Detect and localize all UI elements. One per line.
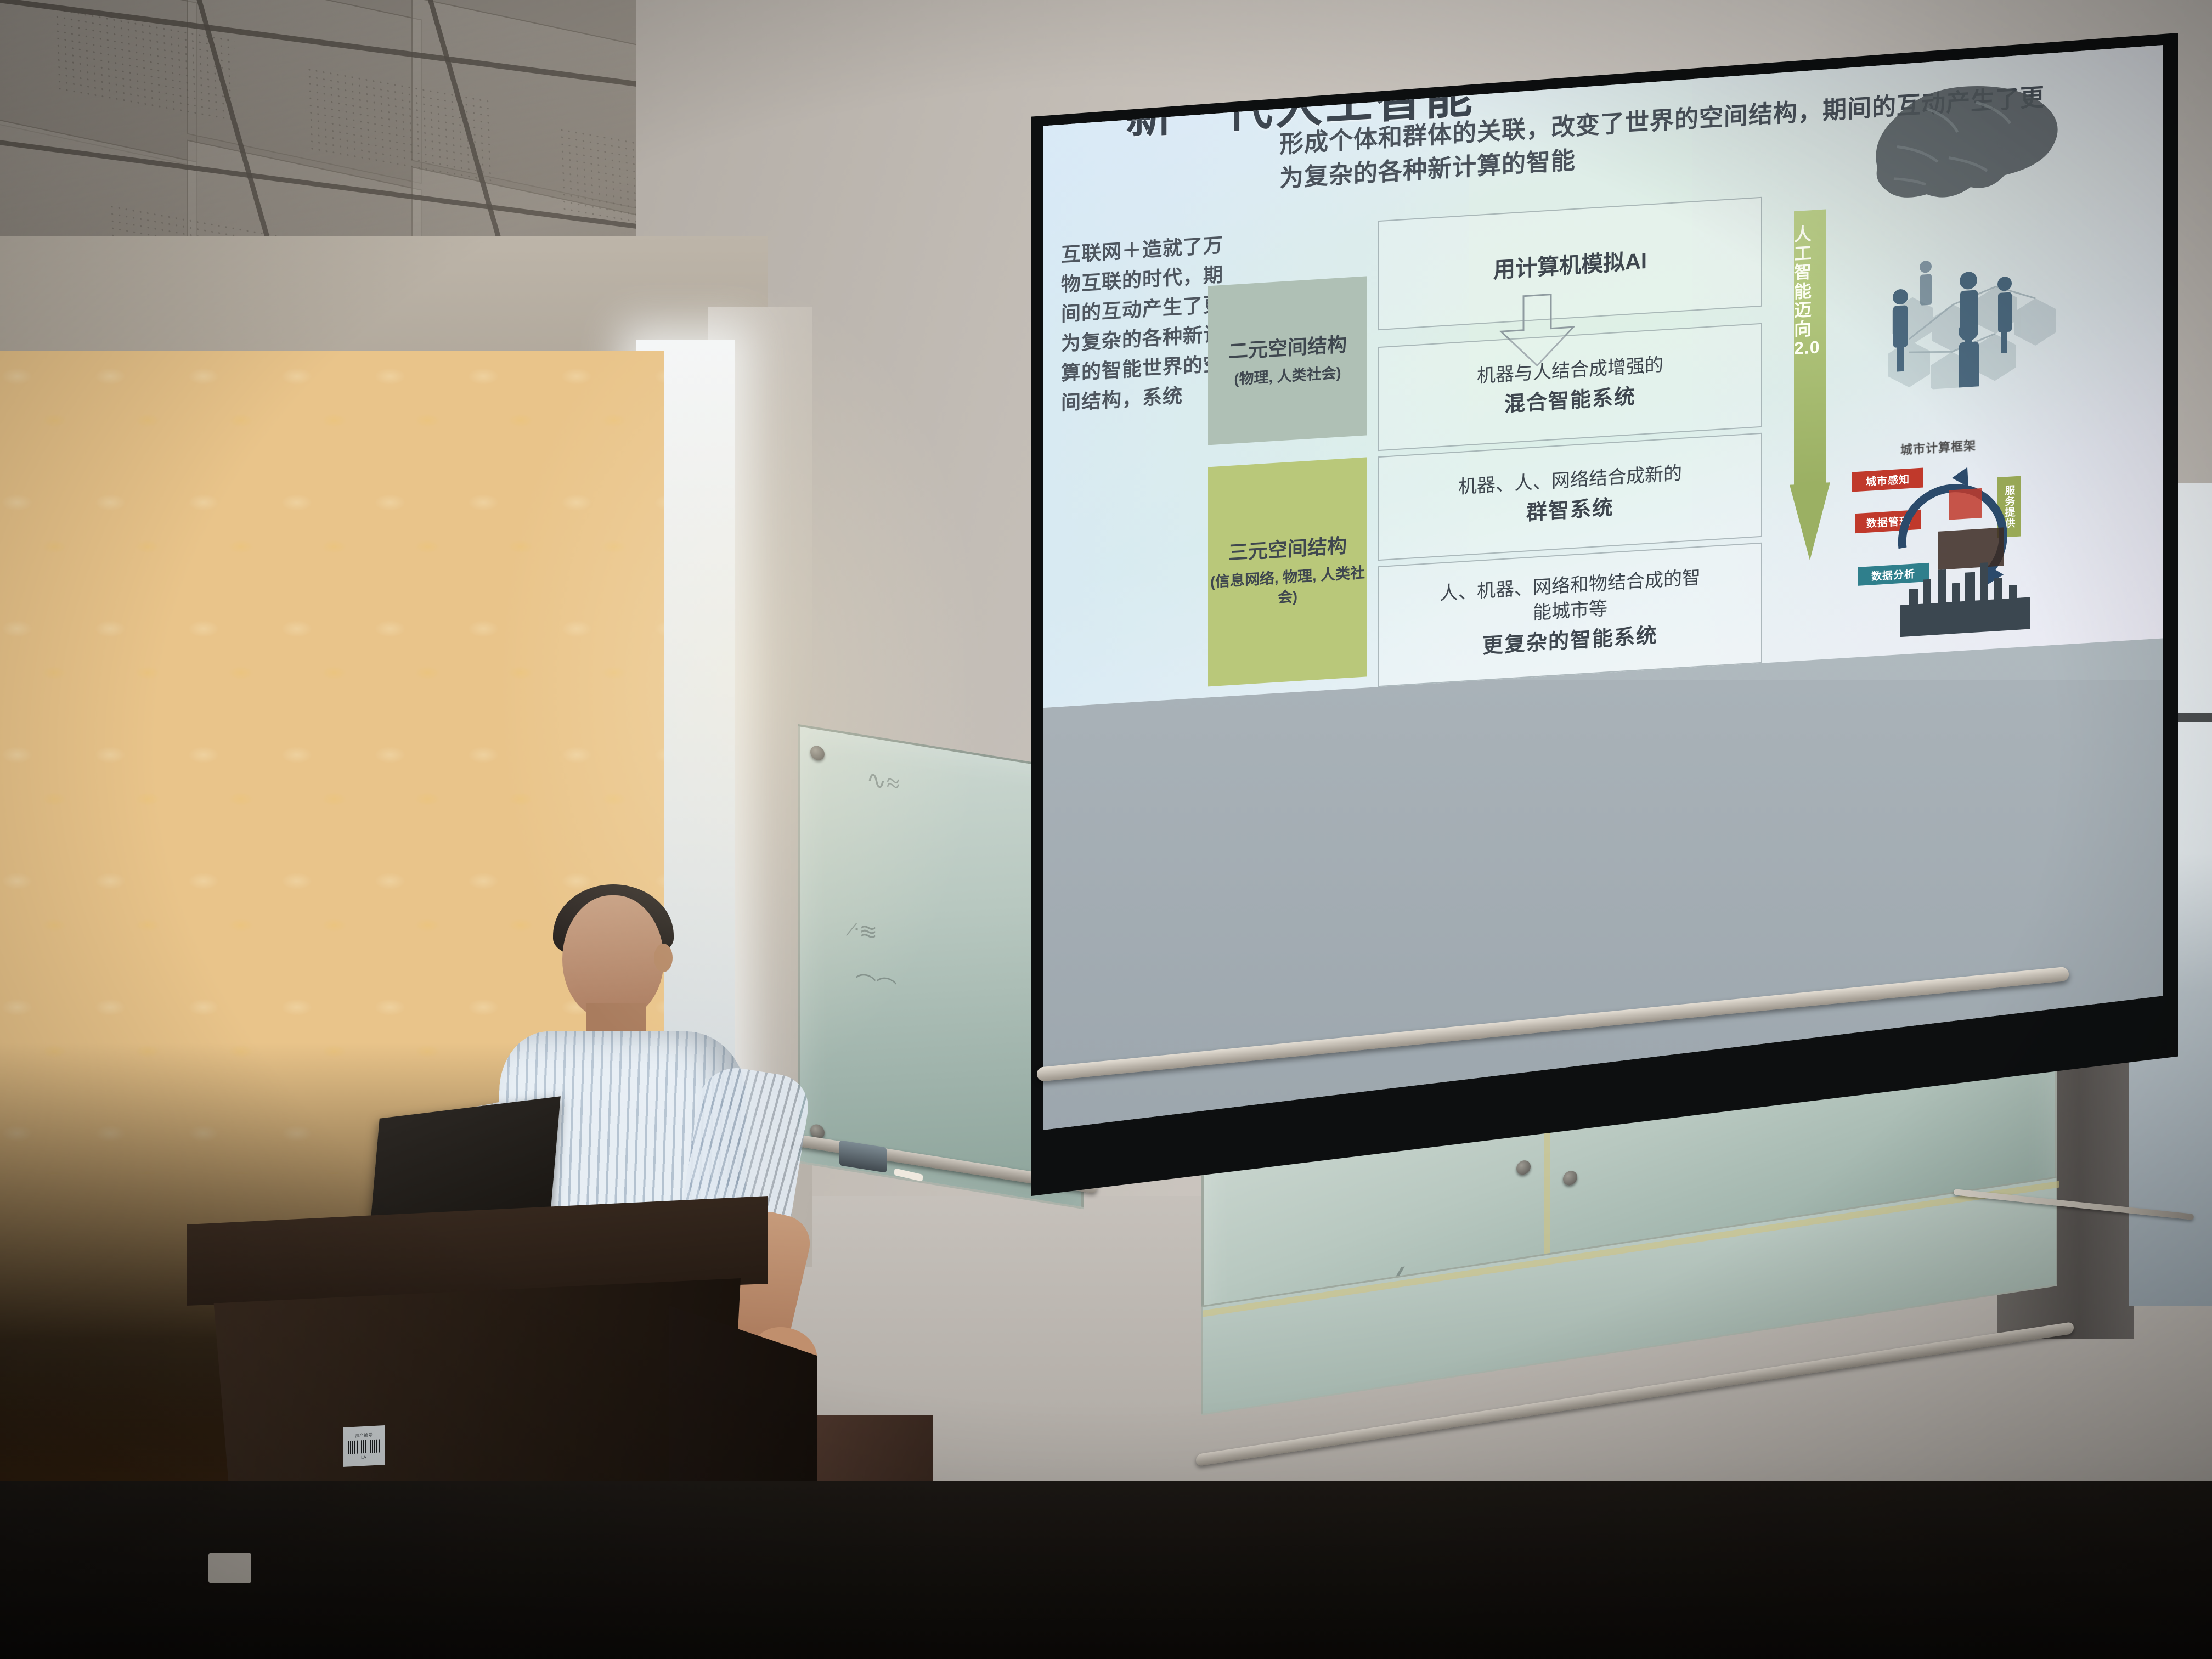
social-network-icon xyxy=(1866,227,2069,393)
floor xyxy=(0,1481,2212,1659)
asset-label-code: LA xyxy=(361,1455,366,1460)
photo-scene: ∿≈ ∕ᐧ≋ ⌒⌒ ⌐∠ 新一代人工智能 形成个体和群体的关联，改变了世界的空间… xyxy=(0,0,2212,1659)
simulate-ai-label: 用计算机模拟AI xyxy=(1493,243,1647,284)
city-line2: 能城市等 xyxy=(1533,597,1607,627)
urban-computing-diagram: 城市计算框架 城市感知 数据管理 数据分析 服务提供 xyxy=(1850,430,2080,641)
podium-asset-label: 资产编号 LA xyxy=(343,1425,385,1467)
ternary-space-box: 三元空间结构 (信息网络, 物理, 人类社会) xyxy=(1208,457,1367,686)
binary-space-sub: (物理, 人类社会) xyxy=(1234,363,1341,390)
arrow-head-icon xyxy=(1790,482,1830,562)
city-strong: 更复杂的智能系统 xyxy=(1482,622,1658,661)
swarm-line1: 机器、人、网络结合成新的 xyxy=(1458,461,1682,500)
swarm-strong: 群智系统 xyxy=(1526,494,1614,528)
presenter-head xyxy=(562,895,664,1019)
slide-body-text: 互联网＋造就了万物互联的时代，期间的互动产生了更为复杂的各种新计算的智能世界的空… xyxy=(1061,230,1226,418)
wall-socket xyxy=(208,1553,251,1583)
presenter-ear xyxy=(654,944,673,972)
ai-2point0-arrow: 人工智能迈向2.0 xyxy=(1790,209,1830,563)
brain-icon xyxy=(1861,68,2069,218)
slide-content: 新一代人工智能 形成个体和群体的关联，改变了世界的空间结构，期间的互动产生了更为… xyxy=(1043,37,2163,708)
binary-space-box: 二元空间结构 (物理, 人类社会) xyxy=(1208,276,1367,445)
binary-space-title: 二元空间结构 xyxy=(1228,331,1347,365)
ternary-space-sub: (信息网络, 物理, 人类社会) xyxy=(1208,562,1367,612)
projection-screen: 新一代人工智能 形成个体和群体的关联，改变了世界的空间结构，期间的互动产生了更为… xyxy=(1031,33,2178,1240)
hybrid-strong: 混合智能系统 xyxy=(1504,383,1636,419)
ternary-space-title: 三元空间结构 xyxy=(1228,533,1347,567)
barcode-icon xyxy=(348,1439,380,1454)
asset-label-text: 资产编号 xyxy=(355,1432,373,1439)
ai-2point0-arrow-label: 人工智能迈向2.0 xyxy=(1794,210,1826,486)
smart-city-box: 人、机器、网络和物结合成的智 能城市等 更复杂的智能系统 xyxy=(1378,543,1762,687)
